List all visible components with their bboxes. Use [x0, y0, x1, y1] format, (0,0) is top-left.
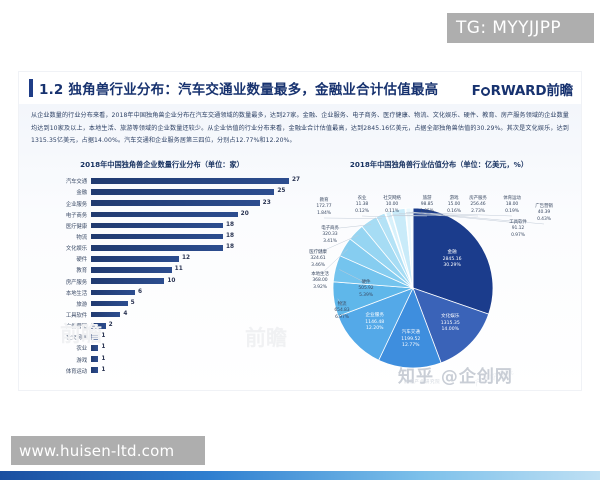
bar-track: 23	[91, 198, 293, 209]
bar-fill	[91, 212, 238, 218]
bar-category-label: 物流	[31, 233, 91, 241]
body-paragraph: 从企业数量的行业分布来看，2018年中国独角兽企业分布在汽车交通领域的数量最多，…	[31, 110, 569, 148]
bar-fill	[91, 200, 260, 206]
bar-fill	[91, 178, 289, 184]
bar-category-label: 汽车交通	[31, 177, 91, 185]
bar-row: 教育11	[31, 265, 293, 276]
logo-ring-icon	[481, 87, 490, 96]
bar-value-label: 2	[109, 322, 113, 328]
bar-track: 1	[91, 365, 293, 376]
pie-outer-label: 本地生活368.003.92%	[303, 272, 337, 291]
pie-outer-label: 物流654.836.97%	[325, 302, 359, 321]
bar-row: 电子商务20	[31, 209, 293, 220]
forward-logo: FRWARD前瞻	[472, 79, 573, 99]
bar-track: 5	[91, 299, 293, 310]
pie-outer-label: 硬件505.925.39%	[349, 280, 383, 299]
bar-track: 12	[91, 254, 293, 265]
bar-track: 25	[91, 187, 293, 198]
pie-chart-title: 2018年中国独角兽行业估值分布（单位：亿美元，%）	[305, 160, 573, 170]
pie-inner-label: 文化娱乐1315.3514.00%	[432, 314, 468, 334]
bar-track: 18	[91, 232, 293, 243]
bar-category-label: 体育运动	[31, 367, 91, 375]
bar-chart-title: 2018年中国独角兽企业数量行业分布（单位：家）	[31, 160, 293, 170]
bar-track: 1	[91, 354, 293, 365]
slide-header: 1.2 独角兽行业分布：汽车交通业数量最多，金融业合计估值最高 FRWARD前瞻	[19, 72, 581, 104]
url-watermark-band: www.huisen-ltd.com	[11, 436, 205, 465]
bar-row: 房产服务10	[31, 276, 293, 287]
bar-fill	[91, 267, 172, 273]
bar-track: 18	[91, 221, 293, 232]
bar-track: 20	[91, 209, 293, 220]
tg-watermark-band: TG: MYYJJPP	[447, 13, 594, 43]
bar-row: 本地生活6	[31, 287, 293, 298]
bar-track: 18	[91, 243, 293, 254]
bar-row: 硬件12	[31, 254, 293, 265]
bar-fill	[91, 312, 120, 318]
bar-fill	[91, 367, 98, 373]
bar-value-label: 5	[131, 300, 135, 306]
bar-fill	[91, 223, 223, 229]
bar-value-label: 1	[101, 367, 105, 373]
bar-category-label: 教育	[31, 266, 91, 274]
pie-inner-label: 金融2845.1630.29%	[434, 250, 470, 270]
bar-category-label: 电子商务	[31, 211, 91, 219]
bar-track: 11	[91, 265, 293, 276]
bar-row: 旅游5	[31, 299, 293, 310]
pie-inner-label: 汽车交通1199.5212.77%	[393, 330, 429, 350]
bar-row: 金融25	[31, 187, 293, 198]
bar-category-label: 硬件	[31, 255, 91, 263]
watermark-zhihu-sub: 前瞻产业研究院	[404, 379, 440, 385]
bar-value-label: 10	[167, 278, 175, 284]
bar-row: 医疗健康18	[31, 221, 293, 232]
bar-fill	[91, 278, 164, 284]
bar-value-label: 4	[123, 311, 127, 317]
bar-fill	[91, 356, 98, 362]
logo-rest: RWARD前瞻	[491, 83, 573, 99]
bar-row: 企业服务23	[31, 198, 293, 209]
bar-row: 汽车交通27	[31, 176, 293, 187]
bar-category-label: 企业服务	[31, 200, 91, 208]
bar-value-label: 12	[182, 255, 190, 261]
bar-value-label: 18	[226, 222, 234, 228]
pie-inner-label: 企业服务1146.4812.20%	[357, 313, 393, 333]
pie-outer-label: 教育172.771.84%	[307, 198, 341, 217]
bar-track: 27	[91, 176, 293, 187]
pie-outer-label: 体育运动18.000.19%	[495, 196, 529, 215]
bar-row: 物流18	[31, 232, 293, 243]
bar-value-label: 18	[226, 233, 234, 239]
bar-row: 文化娱乐18	[31, 243, 293, 254]
pie-outer-label: 房产服务256.462.73%	[461, 196, 495, 215]
bar-row: 游戏1	[31, 354, 293, 365]
bar-value-label: 11	[175, 266, 183, 272]
pie-outer-label: 社交网络10.000.11%	[375, 196, 409, 215]
bar-value-label: 25	[277, 188, 285, 194]
bar-value-label: 20	[241, 211, 249, 217]
bar-track: 6	[91, 287, 293, 298]
bar-category-label: 本地生活	[31, 289, 91, 297]
page-title: 1.2 独角兽行业分布：汽车交通业数量最多，金融业合计估值最高	[39, 78, 438, 98]
bar-value-label: 27	[292, 177, 300, 183]
logo-f: F	[472, 83, 481, 99]
bar-fill	[91, 234, 223, 240]
bar-category-label: 房产服务	[31, 278, 91, 286]
bar-value-label: 1	[101, 356, 105, 362]
bottom-blue-strip	[0, 471, 600, 480]
bar-fill	[91, 189, 274, 195]
bar-fill	[91, 290, 135, 296]
bar-fill	[91, 256, 179, 262]
watermark-corner-mid: 前瞻	[245, 322, 287, 352]
bar-category-label: 旅游	[31, 300, 91, 308]
bar-category-label: 游戏	[31, 356, 91, 364]
header-accent-bar	[29, 79, 33, 97]
bar-track: 4	[91, 310, 293, 321]
bar-category-label: 金融	[31, 188, 91, 196]
bar-value-label: 23	[263, 200, 271, 206]
report-slide: 1.2 独角兽行业分布：汽车交通业数量最多，金融业合计估值最高 FRWARD前瞻…	[19, 72, 581, 390]
bar-track: 10	[91, 276, 293, 287]
pie-outer-label: 广告营销40.390.43%	[527, 204, 561, 223]
slide-page: TG: MYYJJPP 1.2 独角兽行业分布：汽车交通业数量最多，金融业合计估…	[0, 0, 600, 480]
bar-category-label: 医疗健康	[31, 222, 91, 230]
bar-fill	[91, 301, 128, 307]
bar-value-label: 6	[138, 289, 142, 295]
pie-outer-label: 医疗健康324.613.46%	[301, 250, 335, 269]
pie-chart: 2018年中国独角兽行业估值分布（单位：亿美元，%） 金融2845.1630.2…	[305, 160, 573, 382]
pie-chart-plot: 金融2845.1630.29%文化娱乐1315.3514.00%汽车交通1199…	[305, 176, 573, 378]
bar-row: 体育运动1	[31, 365, 293, 376]
pie-outer-label: 农业11.380.12%	[345, 196, 379, 215]
watermark-corner-left: 前瞻	[60, 318, 102, 348]
bar-fill	[91, 245, 223, 251]
pie-outer-label: 电子商务320.333.41%	[313, 226, 347, 245]
bar-category-label: 文化娱乐	[31, 244, 91, 252]
bar-value-label: 18	[226, 244, 234, 250]
